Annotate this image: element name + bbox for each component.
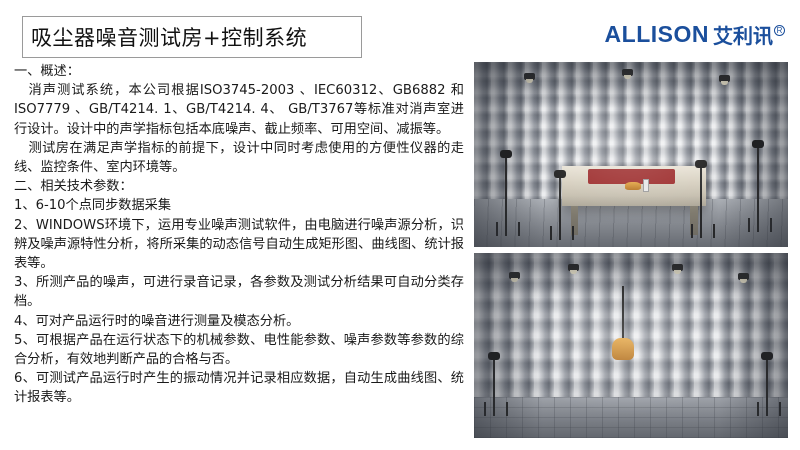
registered-trademark-icon: R <box>774 25 785 36</box>
logo-chinese-mark: 艾利讯 <box>713 26 773 46</box>
body-line-10: 6、可测试产品运行时产生的振动情况并记录相应数据，自动生成曲线图、统计报表等。 <box>14 369 464 407</box>
brand-logo: ALLISON 艾利讯 R <box>605 16 784 46</box>
body-line-7: 3、所测产品的噪声，可进行录音记录，各参数及测试分析结果可自动分类存档。 <box>14 273 464 311</box>
body-line-6: 2、WINDOWS环境下，运用专业噪声测试软件，由电脑进行噪声源分析，识辨及噪声… <box>14 216 464 274</box>
photo-shading <box>474 62 788 247</box>
body-line-2: 消声测试系统，本公司根据ISO3745-2003 、IEC60312、GB688… <box>14 81 464 139</box>
anechoic-chamber-robot-photo <box>474 62 788 247</box>
photo-shading <box>474 253 788 438</box>
body-line-8: 4、可对产品运行时的噪音进行测量及模态分析。 <box>14 312 464 331</box>
logo-wordmark: ALLISON <box>605 23 709 46</box>
body-text-block: 一、概述： 消声测试系统，本公司根据ISO3745-2003 、IEC60312… <box>14 62 464 408</box>
page-title: 吸尘器噪音测试房+控制系统 <box>31 22 307 52</box>
slide-canvas: 吸尘器噪音测试房+控制系统 ALLISON 艾利讯 R 一、概述： 消声测试系统… <box>0 0 800 450</box>
body-line-1: 一、概述： <box>14 62 464 81</box>
anechoic-chamber-interior-photo <box>474 253 788 438</box>
body-line-5: 1、6-10个点同步数据采集 <box>14 196 464 215</box>
body-line-3: 测试房在满足声学指标的前提下，设计中同时考虑使用的方便性仪器的走线、监控条件、室… <box>14 139 464 177</box>
body-line-4: 二、相关技术参数： <box>14 177 464 196</box>
body-line-9: 5、可根据产品在运行状态下的机械参数、电性能参数、噪声参数等参数的综合分析，有效… <box>14 331 464 369</box>
